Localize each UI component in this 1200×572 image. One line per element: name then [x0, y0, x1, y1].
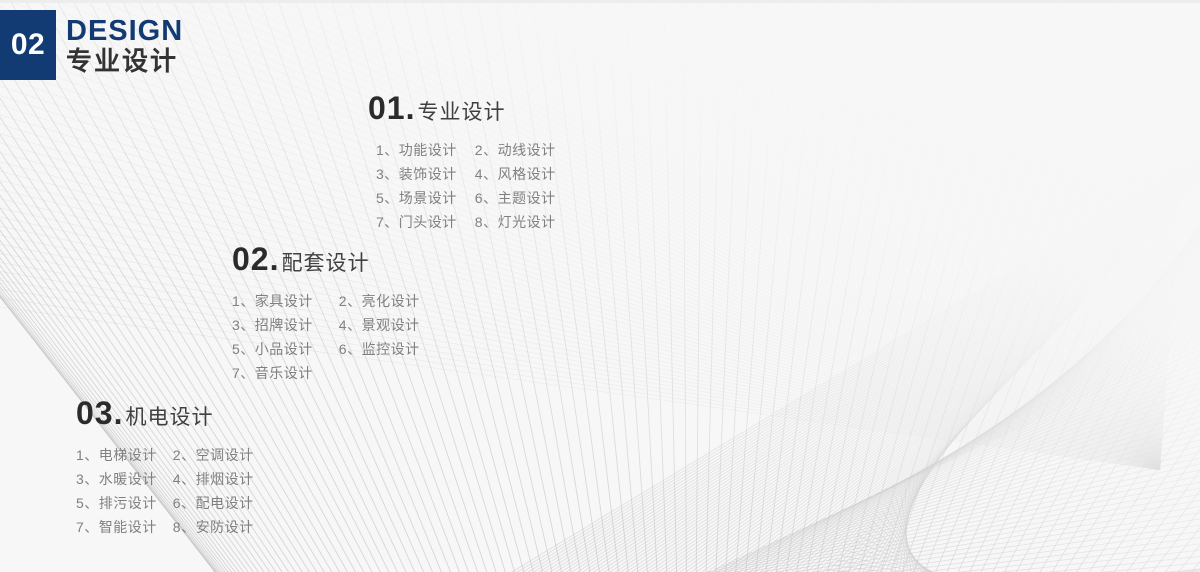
list-item: 6、配电设计	[173, 494, 254, 512]
section-02-item-list: 1、家具设计 2、亮化设计 3、招牌设计 4、景观设计 5、小品设计 6、监控设…	[232, 292, 420, 382]
list-item: 5、场景设计	[376, 189, 457, 207]
list-item: 3、水暖设计	[76, 470, 157, 488]
list-item: 2、亮化设计	[339, 292, 420, 310]
section-02-name: 配套设计	[281, 253, 369, 274]
list-item: 8、安防设计	[173, 518, 254, 536]
header-title-chinese: 专业设计	[66, 47, 183, 77]
section-01-heading: 01. 专业设计	[368, 92, 556, 124]
list-item: 8、灯光设计	[475, 213, 556, 231]
list-item: 5、排污设计	[76, 494, 157, 512]
section-02-number: 02.	[232, 243, 279, 275]
list-item: 7、门头设计	[376, 213, 457, 231]
section-01-item-list: 1、功能设计 2、动线设计 3、装饰设计 4、风格设计 5、场景设计 6、主题设…	[376, 141, 556, 231]
list-item: 3、招牌设计	[232, 316, 313, 334]
list-item: 2、空调设计	[173, 446, 254, 464]
list-item: 6、主题设计	[475, 189, 556, 207]
slide-canvas: 02 DESIGN 专业设计 01. 专业设计 1、功能设计 2、动线设计 3、…	[0, 0, 1200, 572]
slide-header: 02 DESIGN 专业设计	[0, 10, 183, 80]
section-03-number: 03.	[76, 397, 123, 429]
list-item: 7、音乐设计	[232, 364, 313, 382]
list-item: 7、智能设计	[76, 518, 157, 536]
list-item: 4、景观设计	[339, 316, 420, 334]
section-02-heading: 02. 配套设计	[232, 243, 420, 275]
section-01-number: 01.	[368, 92, 415, 124]
section-01-name: 专业设计	[417, 102, 505, 123]
section-03-name: 机电设计	[125, 407, 213, 428]
list-item: 1、功能设计	[376, 141, 457, 159]
content-section-01: 01. 专业设计 1、功能设计 2、动线设计 3、装饰设计 4、风格设计 5、场…	[368, 92, 556, 231]
badge-number-label: 02	[11, 30, 45, 60]
list-item: 3、装饰设计	[376, 165, 457, 183]
section-03-heading: 03. 机电设计	[76, 397, 254, 429]
section-number-badge: 02	[0, 10, 56, 80]
list-item: 2、动线设计	[475, 141, 556, 159]
list-item: 1、电梯设计	[76, 446, 157, 464]
header-titles: DESIGN 专业设计	[66, 10, 183, 77]
list-item: 6、监控设计	[339, 340, 420, 358]
section-03-item-list: 1、电梯设计 2、空调设计 3、水暖设计 4、排烟设计 5、排污设计 6、配电设…	[76, 446, 254, 536]
content-section-03: 03. 机电设计 1、电梯设计 2、空调设计 3、水暖设计 4、排烟设计 5、排…	[76, 397, 254, 536]
content-section-02: 02. 配套设计 1、家具设计 2、亮化设计 3、招牌设计 4、景观设计 5、小…	[232, 243, 420, 382]
top-divider	[0, 0, 1200, 3]
list-item: 5、小品设计	[232, 340, 313, 358]
list-item: 4、排烟设计	[173, 470, 254, 488]
header-title-english: DESIGN	[66, 16, 183, 46]
list-item: 1、家具设计	[232, 292, 313, 310]
list-item: 4、风格设计	[475, 165, 556, 183]
